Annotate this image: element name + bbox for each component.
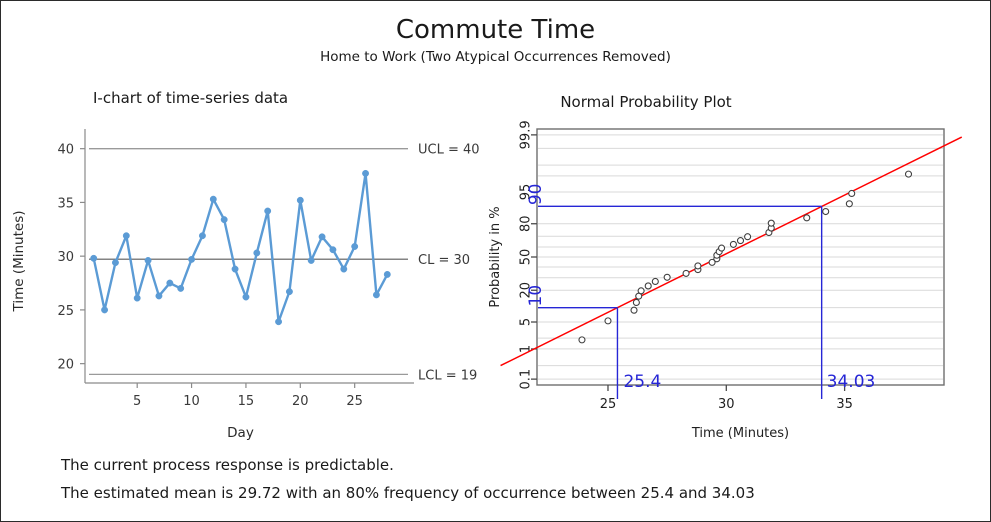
i-chart-data-point [232, 266, 238, 272]
i-chart-data-point [145, 257, 151, 263]
npp-data-point [846, 201, 852, 207]
i-chart-x-tick-label: 10 [183, 394, 200, 409]
summary-text: The current process response is predicta… [61, 451, 755, 507]
npp-y-axis-title: Probability in % [488, 206, 503, 307]
i-chart-y-tick-label: 30 [57, 250, 74, 265]
npp-lower-percent-label: 10 [526, 285, 546, 307]
i-chart-y-tick-label: 20 [57, 358, 74, 373]
npp-y-tick-label: 80 [519, 215, 534, 232]
i-chart-x-tick-label: 25 [346, 394, 363, 409]
i-chart-plot: 2025303540510152025DayTime (Minutes)UCL … [1, 1, 501, 461]
i-chart-data-point [199, 233, 205, 239]
i-chart-data-point [101, 307, 107, 313]
i-chart-y-tick-label: 25 [57, 304, 74, 319]
npp-data-point [745, 234, 751, 240]
i-chart-data-point [112, 259, 118, 265]
npp-y-tick-label: 50 [519, 249, 534, 266]
npp-y-tick-label: 0.1 [519, 369, 534, 390]
npp-upper-value-label: 34.03 [827, 372, 876, 392]
i-chart-data-point [362, 170, 368, 176]
npp-title: Normal Probability Plot [560, 93, 731, 111]
i-chart-x-axis-title: Day [227, 425, 254, 441]
i-chart-y-axis-title: Time (Minutes) [11, 210, 27, 312]
i-chart-data-point [156, 293, 162, 299]
i-chart-data-point [286, 288, 292, 294]
npp-data-point [768, 220, 774, 226]
i-chart-data-point [351, 243, 357, 249]
normal-probability-plot-panel: Normal Probability Plot 0.1152050809599.… [471, 1, 991, 461]
i-chart-data-point [297, 197, 303, 203]
npp-data-point [719, 245, 725, 251]
npp-x-tick-label: 35 [836, 397, 853, 412]
npp-data-point [730, 241, 736, 247]
i-chart-data-point [221, 216, 227, 222]
npp-data-point [638, 288, 644, 294]
npp-y-tick-label: 1 [519, 345, 534, 353]
npp-data-point [849, 190, 855, 196]
npp-data-point [906, 171, 912, 177]
i-chart-data-point [91, 255, 97, 261]
i-chart-data-point [134, 295, 140, 301]
i-chart-data-point [384, 271, 390, 277]
npp-x-tick-label: 25 [600, 397, 617, 412]
i-chart-data-point [254, 250, 260, 256]
i-chart-data-point [243, 294, 249, 300]
i-chart-x-tick-label: 15 [238, 394, 255, 409]
i-chart-data-point [188, 256, 194, 262]
npp-data-point [579, 337, 585, 343]
i-chart-data-point [167, 280, 173, 286]
summary-line-1: The current process response is predicta… [61, 451, 755, 479]
npp-upper-percent-label: 90 [526, 184, 546, 206]
npp-y-tick-label: 5 [519, 318, 534, 326]
i-chart-data-point [319, 234, 325, 240]
i-chart-data-point [330, 247, 336, 253]
npp-data-point [804, 215, 810, 221]
i-chart-title: I-chart of time-series data [93, 89, 288, 107]
i-chart-data-point [275, 319, 281, 325]
npp-data-point [645, 283, 651, 289]
i-chart-data-point [373, 292, 379, 298]
i-chart-data-point [341, 266, 347, 272]
i-chart-x-tick-label: 5 [133, 394, 141, 409]
npp-plot: 0.1152050809599.9253035Time (Minutes)Pro… [471, 1, 991, 461]
npp-x-tick-label: 30 [718, 397, 735, 412]
npp-data-point [695, 263, 701, 269]
npp-data-point [631, 307, 637, 313]
i-chart-lcl-label: LCL = 19 [418, 368, 477, 383]
npp-data-point [633, 299, 639, 305]
i-chart-x-tick-label: 20 [292, 394, 309, 409]
figure-canvas: Commute Time Home to Work (Two Atypical … [0, 0, 991, 522]
i-chart-panel: I-chart of time-series data 202530354051… [1, 1, 501, 461]
npp-data-point [823, 209, 829, 215]
npp-x-axis-title: Time (Minutes) [691, 426, 789, 441]
i-chart-y-tick-label: 40 [57, 143, 74, 158]
i-chart-data-point [210, 196, 216, 202]
npp-y-tick-label: 99.9 [519, 120, 534, 149]
summary-line-2: The estimated mean is 29.72 with an 80% … [61, 479, 755, 507]
i-chart-data-point [308, 257, 314, 263]
i-chart-y-tick-label: 35 [57, 196, 74, 211]
npp-lower-value-label: 25.4 [623, 372, 661, 392]
npp-data-point [664, 274, 670, 280]
i-chart-data-point [264, 208, 270, 214]
npp-data-point [652, 278, 658, 284]
npp-data-point [605, 318, 611, 324]
npp-data-point [738, 238, 744, 244]
npp-data-point [683, 270, 689, 276]
i-chart-cl-label: CL = 30 [418, 253, 470, 268]
i-chart-data-point [177, 285, 183, 291]
i-chart-data-point [123, 233, 129, 239]
